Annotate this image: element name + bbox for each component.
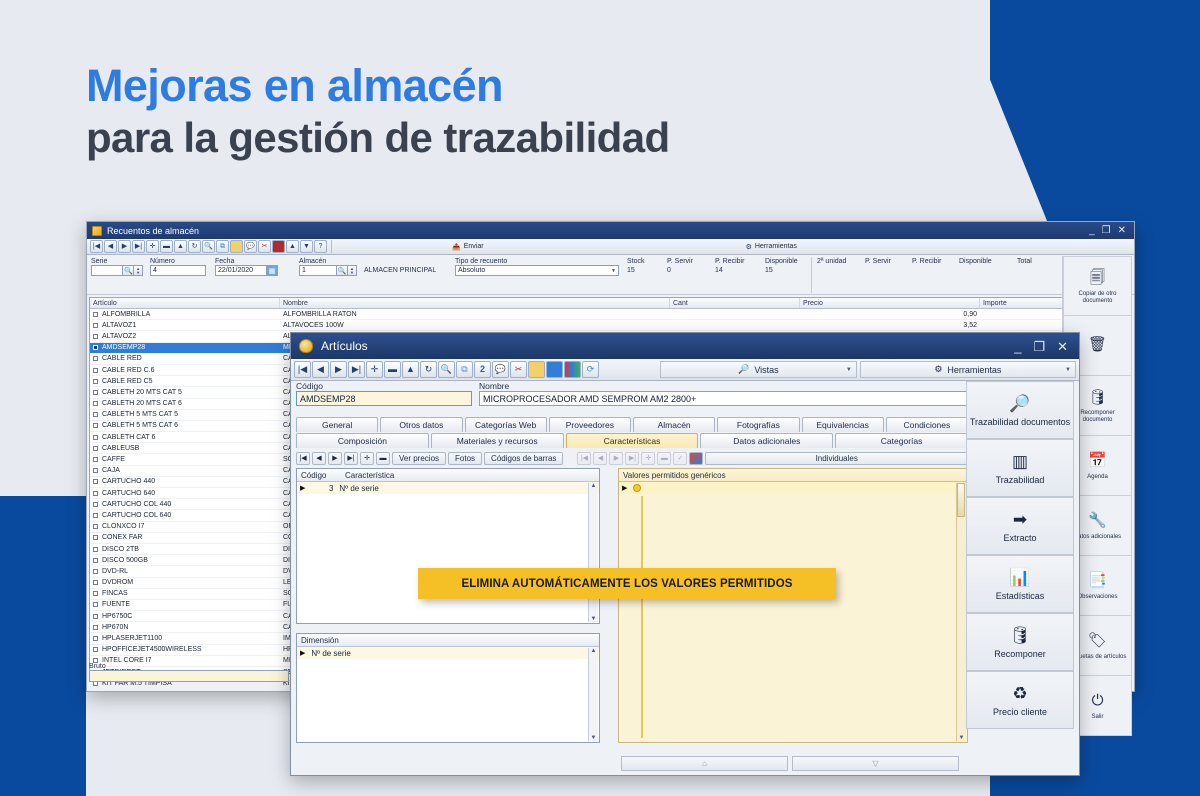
articulos-tab-row-2[interactable]: ComposiciónMateriales y recursosCaracter… <box>296 433 968 448</box>
almacen-lookup-icon[interactable]: 🔍 <box>337 265 348 276</box>
comment-icon[interactable]: 💬 <box>244 240 257 253</box>
fecha-label: Fecha <box>215 258 290 265</box>
dimension-scroll-up-icon[interactable]: ▲ <box>591 648 597 654</box>
send-button[interactable]: 📤 Enviar <box>446 240 490 253</box>
articulos-maximize-icon[interactable]: ❐ <box>1033 340 1045 353</box>
art-nav-first-icon[interactable]: |◀ <box>294 361 311 378</box>
row-checkbox[interactable] <box>93 446 98 451</box>
cell-articulo: ALFOMBRILLA <box>102 311 150 318</box>
gear-icon: ⚙ <box>746 243 752 251</box>
bruto-label: Bruto <box>89 663 294 670</box>
tab-datos-adicionales[interactable]: Datos adicionales <box>700 433 833 448</box>
stock-label: Stock <box>627 258 645 265</box>
folder-icon[interactable] <box>230 240 243 253</box>
row-checkbox[interactable] <box>93 345 98 350</box>
nav-next-icon[interactable]: ▶ <box>118 240 131 253</box>
articulos-minimize-icon[interactable]: _ <box>1014 340 1021 353</box>
art-nav-next-icon[interactable]: ▶ <box>330 361 347 378</box>
precibir-value: 14 <box>715 267 744 274</box>
art-remove-icon[interactable]: ▬ <box>384 361 401 378</box>
row-checkbox[interactable] <box>93 535 98 540</box>
carac-nombre-value: Nº de serie <box>339 484 378 493</box>
art-refresh-icon[interactable]: ↻ <box>420 361 437 378</box>
val-prev-icon[interactable]: ◀ <box>593 452 607 465</box>
bruto-input[interactable] <box>89 670 289 682</box>
row-checkbox[interactable] <box>93 435 98 440</box>
stop-icon[interactable] <box>272 240 285 253</box>
art-comment-icon[interactable]: 💬 <box>492 361 509 378</box>
refresh-icon[interactable]: ↻ <box>188 240 201 253</box>
articulos-window[interactable]: Artículos _ ❐ ✕ |◀ ◀ ▶ ▶| ✛ ▬ ▲ ↻ 🔍 ⧉ 2 … <box>290 332 1080 776</box>
cell-articulo: CARTUCHO 440 <box>102 478 155 485</box>
articulos-rail-button[interactable]: 📊Estadísticas <box>966 555 1074 613</box>
remove-icon[interactable]: ▬ <box>160 240 173 253</box>
valores-caret-icon: ▶ <box>622 484 627 492</box>
col-nombre[interactable]: Nombre <box>280 298 670 308</box>
codigo-input[interactable]: AMDSEMP28 <box>296 391 472 406</box>
cell-cant <box>670 309 800 319</box>
cell-articulo: CAFFE <box>102 456 125 463</box>
rail-button[interactable]: 🗐Copiar de otro documento <box>1063 256 1132 316</box>
cell-nombre: ALTAVOCES 100W <box>280 320 670 330</box>
cell-articulo: CABLETH 5 MTS CAT 5 <box>102 411 178 418</box>
precibir-label: P. Recibir <box>715 258 744 265</box>
carac-add-icon[interactable]: ✛ <box>360 452 374 465</box>
rail-button-label: Agenda <box>1087 474 1108 481</box>
views-icon: 🔎 <box>738 364 749 375</box>
caracteristica-row[interactable]: ▶ 3 Nº de serie <box>297 482 599 494</box>
send-label: Enviar <box>464 243 484 250</box>
cut-icon[interactable]: ✂ <box>258 240 271 253</box>
tab-categor-as[interactable]: Categorías <box>835 433 968 448</box>
almacen-name: ALMACEN PRINCIPAL <box>364 267 436 274</box>
valores-scroll-thumb[interactable] <box>957 483 965 517</box>
tab-equivalencias[interactable]: Equivalencias <box>802 417 884 432</box>
tab-proveedores[interactable]: Proveedores <box>549 417 631 432</box>
tab-composici-n[interactable]: Composición <box>296 433 429 448</box>
headline-line-1: Mejoras en almacén <box>86 62 1006 111</box>
calendar-icon[interactable]: ▦ <box>267 265 278 276</box>
articulos-tab-row-1[interactable]: GeneralOtros datosCategorías WebProveedo… <box>296 417 968 432</box>
herramientas-chevron-icon[interactable]: ▼ <box>1065 367 1071 373</box>
carac-codigo-value: 3 <box>311 484 333 493</box>
cell-articulo: DVD-RL <box>102 568 128 575</box>
tools-button[interactable]: ⚙ Herramientas <box>740 240 803 253</box>
serie-lookup-icon[interactable]: 🔍 <box>123 265 134 276</box>
tab-fotograf-as[interactable]: Fotografías <box>717 417 799 432</box>
tipo-recuento-value: Absoluto <box>458 267 485 274</box>
vistas-label: Vistas <box>754 365 778 375</box>
numero-input[interactable]: 4 <box>150 265 206 276</box>
vistas-chevron-icon[interactable]: ▼ <box>846 367 852 373</box>
rebuild-icon: 🛢 <box>1007 624 1033 648</box>
articulos-toolbar[interactable]: |◀ ◀ ▶ ▶| ✛ ▬ ▲ ↻ 🔍 ⧉ 2 💬 ✂ ⟳ 🔎 Vistas ▼… <box>291 359 1079 381</box>
row-checkbox[interactable] <box>93 647 98 652</box>
col-cant[interactable]: Cant <box>670 298 800 308</box>
carac-col-caracteristica[interactable]: Característica <box>345 471 394 480</box>
cell-articulo: CARTUCHO 640 <box>102 490 155 497</box>
carac-col-codigo[interactable]: Código <box>301 471 335 480</box>
carac-next-icon[interactable]: ▶ <box>328 452 342 465</box>
cell-articulo: CABLETH 20 MTS CAT 5 <box>102 389 182 396</box>
articulos-herramientas-label: Herramientas <box>947 365 1001 375</box>
articulos-side-rail[interactable]: 🔎Trazabilidad documentos▥Trazabilidad➡Ex… <box>966 381 1074 750</box>
cell-articulo: ALTAVOZ2 <box>102 333 136 340</box>
almacen-input[interactable]: 1 <box>299 265 337 276</box>
page-title: Mejoras en almacén para la gestión de tr… <box>86 62 1006 161</box>
articulos-herramientas-button[interactable]: ⚙ Herramientas ▼ <box>860 361 1076 378</box>
row-checkbox[interactable] <box>93 502 98 507</box>
table-row[interactable]: ALTAVOZ1ALTAVOCES 100W3,520,00 <box>90 320 1129 331</box>
row-checkbox[interactable] <box>93 558 98 563</box>
search-icon[interactable]: 🔍 <box>202 240 215 253</box>
cell-articulo: CAJA <box>102 467 120 474</box>
tab-caracter-sticas[interactable]: Características <box>566 433 699 448</box>
articulos-rail-button[interactable]: 🛢Recomponer <box>966 613 1074 671</box>
valores-guide-line <box>641 496 643 738</box>
art-folder-icon[interactable] <box>528 361 545 378</box>
articulos-rail-button[interactable]: ♻Precio cliente <box>966 671 1074 729</box>
cell-articulo: CABLETH CAT 6 <box>102 434 155 441</box>
cell-nombre: ALFOMBRILLA RATON <box>280 309 670 319</box>
pservir2-label: P. Servir <box>865 258 891 265</box>
tab-condiciones[interactable]: Condiciones <box>886 417 968 432</box>
row-checkbox[interactable] <box>93 356 98 361</box>
row-checkbox[interactable] <box>93 423 98 428</box>
row-checkbox[interactable] <box>93 591 98 596</box>
nav-last-icon[interactable]: ▶| <box>132 240 145 253</box>
art-edit-icon[interactable]: ▲ <box>402 361 419 378</box>
pservir-value: 0 <box>667 267 693 274</box>
main-toolbar[interactable]: |◀ ◀ ▶ ▶| ✛ ▬ ▲ ↻ 🔍 ⧉ 💬 ✂ ▲ ▼ ? 📤 Enviar <box>87 239 1134 255</box>
cell-articulo: AMDSEMP28 <box>102 344 145 351</box>
row-checkbox[interactable] <box>93 379 98 384</box>
individuales-button[interactable]: Individuales <box>705 452 968 465</box>
valores-scrollbar[interactable]: ▲ ▼ <box>956 483 966 741</box>
tipo-recuento-select[interactable]: Absoluto ▼ <box>455 265 619 276</box>
pservir-label: P. Servir <box>667 258 693 265</box>
dimension-panel[interactable]: Dimensión ▶ Nº de serie ▲ ▼ <box>296 633 600 743</box>
row-checkbox[interactable] <box>93 334 98 339</box>
cell-articulo: CABLEUSB <box>102 445 139 452</box>
art-copy-icon[interactable]: ⧉ <box>456 361 473 378</box>
row-caret-icon: ▶ <box>300 484 305 492</box>
dimension-row[interactable]: ▶ Nº de serie <box>297 647 599 659</box>
bottom-up-button[interactable]: ⌂ <box>621 756 788 771</box>
rail-button-label: Observaciones <box>1077 594 1117 601</box>
minimize-icon[interactable]: _ <box>1089 226 1095 236</box>
row-checkbox[interactable] <box>93 457 98 462</box>
art-nav-prev-icon[interactable]: ◀ <box>312 361 329 378</box>
help-icon[interactable]: ? <box>314 240 327 253</box>
dimension-caret-icon: ▶ <box>300 649 305 657</box>
bottom-down-button[interactable]: ▽ <box>792 756 959 771</box>
rebuild-doc-icon: 🛢 <box>1087 387 1108 408</box>
cell-articulo: CABLE RED <box>102 355 142 362</box>
cell-articulo: CARTUCHO COL 640 <box>102 512 171 519</box>
cell-articulo: CABLE RED C5 <box>102 378 153 385</box>
carac-last-icon[interactable]: ▶| <box>344 452 358 465</box>
precibir2-label: P. Recibir <box>912 258 941 265</box>
extract-icon: ➡ <box>1007 508 1033 532</box>
articulos-title: Artículos <box>321 339 1014 353</box>
scroll-up-icon[interactable]: ▲ <box>591 483 597 489</box>
headline-line-2: para la gestión de trazabilidad <box>86 114 1006 161</box>
fecha-input[interactable]: 22/01/2020 <box>215 265 267 276</box>
copy-icon[interactable]: ⧉ <box>216 240 229 253</box>
notes-icon: 📑 <box>1087 571 1108 592</box>
cell-articulo: HPOFFICEJET4500WIRELESS <box>102 646 202 653</box>
send-icon: 📤 <box>452 243 461 251</box>
cell-articulo: HP670N <box>102 624 128 631</box>
disponible2-label: Disponible <box>959 258 992 265</box>
nav-first-icon[interactable]: |◀ <box>90 240 103 253</box>
stock-value: 15 <box>627 267 645 274</box>
rail-button-label: Salir <box>1091 714 1103 721</box>
copy-doc-icon: 🗐 <box>1087 268 1108 289</box>
ver-precios-button[interactable]: Ver precios <box>392 452 446 465</box>
dimension-value: Nº de serie <box>311 649 350 658</box>
rail-button-label: Datos adicionales <box>1074 534 1121 541</box>
art-duplicate-icon[interactable]: 2 <box>474 361 491 378</box>
window-app-icon <box>92 226 102 236</box>
background-blue-shape-left <box>0 496 86 796</box>
articulos-rail-label: Trazabilidad <box>996 476 1045 486</box>
articulo-identity-fields: Código AMDSEMP28 Nombre MICROPROCESADOR … <box>296 381 1074 414</box>
carac-first-icon[interactable]: |◀ <box>296 452 310 465</box>
table-row[interactable]: ALFOMBRILLAALFOMBRILLA RATON0,900,00 <box>90 309 1129 320</box>
disponible-label: Disponible <box>765 258 798 265</box>
cell-articulo: ALTAVOZ1 <box>102 322 136 329</box>
articulos-bottom-buttons[interactable]: ⌂ ▽ <box>621 756 959 771</box>
trash-icon: 🗑 <box>1087 334 1108 355</box>
row-checkbox[interactable] <box>93 614 98 619</box>
valores-permitidos-panel[interactable]: Valores permitidos genéricos ▶ ▲ ▼ <box>618 468 968 743</box>
cell-precio: 3,52 <box>800 320 980 330</box>
disponible-value: 15 <box>765 267 798 274</box>
row-checkbox[interactable] <box>93 312 98 317</box>
val-first-icon[interactable]: |◀ <box>577 452 591 465</box>
tab-general[interactable]: General <box>296 417 378 432</box>
sort-asc-icon[interactable]: ▲ <box>286 240 299 253</box>
art-reload-icon[interactable]: ⟳ <box>582 361 599 378</box>
art-search-icon[interactable]: 🔍 <box>438 361 455 378</box>
cell-articulo: CABLETH 5 MTS CAT 6 <box>102 422 178 429</box>
cell-cant <box>670 320 800 330</box>
calendar-icon: 📅 <box>1087 451 1108 472</box>
row-checkbox[interactable] <box>93 390 98 395</box>
tools-label: Herramientas <box>755 243 797 250</box>
sort-desc-icon[interactable]: ▼ <box>300 240 313 253</box>
serie-input[interactable] <box>91 265 123 276</box>
serie-label: Serie <box>91 258 143 265</box>
fotos-button[interactable]: Fotos <box>448 452 482 465</box>
dimension-scroll-down-icon[interactable]: ▼ <box>591 735 597 741</box>
chevron-down-icon: ▼ <box>611 268 616 274</box>
barcode-icon: ▥ <box>1007 450 1033 474</box>
tab-almac-n[interactable]: Almacén <box>633 417 715 432</box>
row-checkbox[interactable] <box>93 412 98 417</box>
caracteristicas-scrollbar[interactable]: ▲ ▼ <box>588 483 598 622</box>
articulos-rail-button[interactable]: 🔎Trazabilidad documentos <box>966 381 1074 439</box>
tab-materiales-y-recursos[interactable]: Materiales y recursos <box>431 433 564 448</box>
valor-marker-icon <box>633 484 641 492</box>
cell-articulo: HP6750C <box>102 613 132 620</box>
carac-prev-icon[interactable]: ◀ <box>312 452 326 465</box>
row-checkbox[interactable] <box>93 468 98 473</box>
codigo-label: Código <box>296 381 472 391</box>
row-checkbox[interactable] <box>93 479 98 484</box>
total-label: Total <box>1017 258 1032 265</box>
maximize-icon[interactable]: ❐ <box>1102 226 1111 236</box>
cell-articulo: HPLASERJET1100 <box>102 635 162 642</box>
valores-scroll-down-icon[interactable]: ▼ <box>959 735 965 741</box>
main-window-title: Recuentos de almacén <box>107 226 1089 236</box>
edit-icon[interactable]: ▲ <box>174 240 187 253</box>
val-grid-icon[interactable] <box>689 452 703 465</box>
cell-articulo: FINCAS <box>102 590 128 597</box>
row-checkbox[interactable] <box>93 625 98 630</box>
lightbulb-icon <box>299 339 313 353</box>
serie-stepper[interactable]: ▲▼ <box>134 265 143 276</box>
cell-articulo: CABLE RED C.6 <box>102 367 155 374</box>
valores-permitidos-label[interactable]: Valores permitidos genéricos <box>623 471 726 480</box>
numero-label: Número <box>150 258 210 265</box>
valores-permitidos-header: Valores permitidos genéricos <box>619 469 967 482</box>
art-chart-icon[interactable] <box>564 361 581 378</box>
caracteristicas-toolbar[interactable]: |◀ ◀ ▶ ▶| ✛ ▬ Ver precios Fotos Códigos … <box>296 450 968 466</box>
cell-articulo: CABLETH 20 MTS CAT 6 <box>102 400 182 407</box>
row-checkbox[interactable] <box>93 569 98 574</box>
row-checkbox[interactable] <box>93 491 98 496</box>
articulos-rail-label: Precio cliente <box>993 708 1047 718</box>
val-next-icon[interactable]: ▶ <box>609 452 623 465</box>
articulos-rail-label: Extracto <box>1003 534 1036 544</box>
client-price-icon: ♻ <box>1007 682 1033 706</box>
dimension-panel-header: Dimensión <box>297 634 599 647</box>
callout-banner-text: ELIMINA AUTOMÁTICAMENTE LOS VALORES PERM… <box>461 578 792 590</box>
trace-docs-icon: 🔎 <box>1007 392 1033 416</box>
main-window-titlebar: Recuentos de almacén _ ❐ ✕ <box>87 222 1134 239</box>
cell-precio: 0,90 <box>800 309 980 319</box>
tab-categor-as-web[interactable]: Categorías Web <box>465 417 547 432</box>
cell-articulo: DVDROM <box>102 579 133 586</box>
row-checkbox[interactable] <box>93 323 98 328</box>
art-globe-icon[interactable] <box>546 361 563 378</box>
dimension-col-label[interactable]: Dimensión <box>301 636 339 645</box>
row-checkbox[interactable] <box>93 636 98 641</box>
cell-articulo: DISCO 2TB <box>102 546 139 553</box>
callout-banner: ELIMINA AUTOMÁTICAMENTE LOS VALORES PERM… <box>418 568 836 599</box>
cell-articulo: CLONXCO I7 <box>102 523 144 530</box>
valores-permitidos-row[interactable]: ▶ <box>619 482 967 494</box>
rail-button-label: Copiar de otro documento <box>1066 291 1129 305</box>
art-scissors-icon[interactable]: ✂ <box>510 361 527 378</box>
cell-articulo: DISCO 500GB <box>102 557 148 564</box>
articulos-rail-label: Recomponer <box>994 650 1046 660</box>
row-checkbox[interactable] <box>93 547 98 552</box>
art-nav-last-icon[interactable]: ▶| <box>348 361 365 378</box>
val-last-icon[interactable]: ▶| <box>625 452 639 465</box>
nav-prev-icon[interactable]: ◀ <box>104 240 117 253</box>
almacen-label: Almacén <box>299 258 459 265</box>
val-add-icon[interactable]: ✛ <box>641 452 655 465</box>
document-header-fields: Serie 🔍 ▲▼ Número 4 Fecha 22/01/2020 ▦ <box>87 255 1134 295</box>
col-articulo[interactable]: Artículo <box>90 298 280 308</box>
carac-remove-icon[interactable]: ▬ <box>376 452 390 465</box>
cell-articulo: CARTUCHO COL 440 <box>102 501 171 508</box>
articulos-close-icon[interactable]: ✕ <box>1057 340 1068 353</box>
almacen-stepper[interactable]: ▲▼ <box>348 265 357 276</box>
cell-articulo: CONEX FAR <box>102 534 142 541</box>
val-confirm-icon[interactable]: ✓ <box>673 452 687 465</box>
col-precio[interactable]: Precio <box>800 298 980 308</box>
scroll-down-icon[interactable]: ▼ <box>591 616 597 622</box>
row-checkbox[interactable] <box>93 513 98 518</box>
add-icon[interactable]: ✛ <box>146 240 159 253</box>
codigos-barras-button[interactable]: Códigos de barras <box>484 452 563 465</box>
articulos-titlebar: Artículos _ ❐ ✕ <box>291 333 1079 359</box>
val-remove-icon[interactable]: ▬ <box>657 452 671 465</box>
art-gear-icon: ⚙ <box>934 364 942 375</box>
tipo-recuento-label: Tipo de recuento <box>455 258 623 265</box>
grid-header-row: Artículo Nombre Cant Precio Importe <box>90 298 1129 309</box>
row-checkbox[interactable] <box>93 524 98 529</box>
row-checkbox[interactable] <box>93 368 98 373</box>
row-checkbox[interactable] <box>93 580 98 585</box>
tags-icon: 🏷 <box>1087 631 1108 652</box>
articulos-rail-button[interactable]: ➡Extracto <box>966 497 1074 555</box>
cell-articulo: FUENTE <box>102 601 130 608</box>
articulos-rail-label: Estadísticas <box>996 592 1045 602</box>
articulos-rail-button[interactable]: ▥Trazabilidad <box>966 439 1074 497</box>
stats-icon: 📊 <box>1007 566 1033 590</box>
row-checkbox[interactable] <box>93 401 98 406</box>
articulos-rail-label: Trazabilidad documentos <box>970 418 1070 428</box>
toolbar-separator <box>331 240 332 253</box>
art-add-icon[interactable]: ✛ <box>366 361 383 378</box>
dimension-scrollbar[interactable]: ▲ ▼ <box>588 648 598 741</box>
caracteristicas-panel-header: Código Característica <box>297 469 599 482</box>
tab-otros-datos[interactable]: Otros datos <box>380 417 462 432</box>
close-icon[interactable]: ✕ <box>1118 226 1126 236</box>
vistas-button[interactable]: 🔎 Vistas ▼ <box>660 361 857 378</box>
add-data-icon: 🔧 <box>1087 511 1108 532</box>
power-icon: ⏻ <box>1087 691 1108 712</box>
unidad2-label: 2ª unidad <box>817 258 846 265</box>
caracteristicas-panel[interactable]: Código Característica ▶ 3 Nº de serie ▲ … <box>296 468 600 624</box>
row-checkbox[interactable] <box>93 602 98 607</box>
